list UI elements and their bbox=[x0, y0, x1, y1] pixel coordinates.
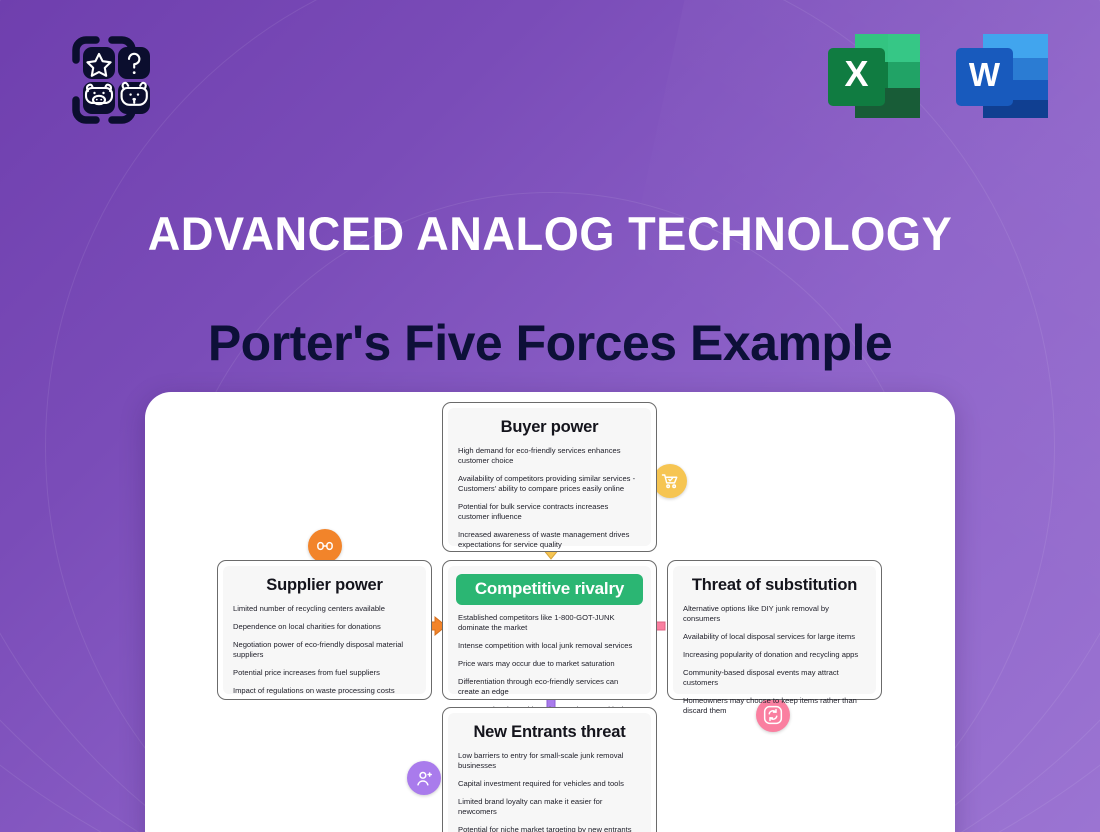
list-item: Established competitors like 1-800-GOT-J… bbox=[458, 613, 641, 633]
list-item: Intense competition with local junk remo… bbox=[458, 641, 641, 651]
list-item: Increasing popularity of donation and re… bbox=[683, 650, 866, 660]
badge-entrants-add-user-icon bbox=[407, 761, 441, 795]
card-bullet-list: Low barriers to entry for small-scale ju… bbox=[458, 751, 641, 832]
card-title: Supplier power bbox=[233, 576, 416, 595]
card-threat-of-substitution[interactable]: Threat of substitution Alternative optio… bbox=[667, 560, 882, 700]
list-item: Limited number of recycling centers avai… bbox=[233, 604, 416, 614]
list-item: Availability of local disposal services … bbox=[683, 632, 866, 642]
card-supplier-power[interactable]: Supplier power Limited number of recycli… bbox=[217, 560, 432, 700]
page-title: ADVANCED ANALOG TECHNOLOGY bbox=[22, 206, 1078, 261]
list-item: High demand for eco-friendly services en… bbox=[458, 446, 641, 466]
badge-supplier-link-icon bbox=[308, 529, 342, 563]
card-title: Buyer power bbox=[458, 418, 641, 437]
card-title: New Entrants threat bbox=[458, 723, 641, 742]
office-app-icons: X W bbox=[824, 30, 1052, 122]
card-new-entrants-threat[interactable]: New Entrants threat Low barriers to entr… bbox=[442, 707, 657, 832]
card-title: Threat of substitution bbox=[683, 576, 866, 595]
card-bullet-list: Alternative options like DIY junk remova… bbox=[683, 604, 866, 716]
list-item: Low barriers to entry for small-scale ju… bbox=[458, 751, 641, 771]
list-item: Availability of competitors providing si… bbox=[458, 474, 641, 494]
add-person-icon bbox=[415, 769, 434, 788]
svg-text:W: W bbox=[969, 56, 1001, 93]
list-item: Alternative options like DIY junk remova… bbox=[683, 604, 866, 624]
list-item: Impact of regulations on waste processin… bbox=[233, 686, 416, 696]
list-item: Potential for niche market targeting by … bbox=[458, 825, 641, 832]
shopping-cart-icon bbox=[661, 472, 679, 490]
list-item: Increased awareness of waste management … bbox=[458, 530, 641, 550]
list-item: Limited brand loyalty can make it easier… bbox=[458, 797, 641, 817]
card-bullet-list: Limited number of recycling centers avai… bbox=[233, 604, 416, 696]
badge-buyer-cart-icon bbox=[653, 464, 687, 498]
list-item: Price wars may occur due to market satur… bbox=[458, 659, 641, 669]
svg-text:X: X bbox=[844, 53, 868, 94]
list-item: Homeowners may choose to keep items rath… bbox=[683, 696, 866, 716]
page-subtitle: Porter's Five Forces Example bbox=[0, 314, 1100, 372]
list-item: Potential for bulk service contracts inc… bbox=[458, 502, 641, 522]
list-item: Potential price increases from fuel supp… bbox=[233, 668, 416, 678]
list-item: Community-based disposal events may attr… bbox=[683, 668, 866, 688]
card-title: Competitive rivalry bbox=[456, 574, 643, 605]
card-competitive-rivalry[interactable]: Competitive rivalry Established competit… bbox=[442, 560, 657, 700]
link-chain-icon bbox=[316, 537, 334, 555]
list-item: Differentiation through eco-friendly ser… bbox=[458, 677, 641, 697]
excel-icon: X bbox=[824, 30, 924, 122]
list-item: Dependence on local charities for donati… bbox=[233, 622, 416, 632]
list-item: Capital investment required for vehicles… bbox=[458, 779, 641, 789]
slide-canvas: X W ADVANCED ANALOG TECHNOLOGY Porter's … bbox=[0, 0, 1100, 832]
card-buyer-power[interactable]: Buyer power High demand for eco-friendly… bbox=[442, 402, 657, 552]
word-icon: W bbox=[952, 30, 1052, 122]
diagram-panel: Buyer power High demand for eco-friendly… bbox=[145, 392, 955, 832]
scan-frame-logo bbox=[52, 30, 156, 130]
list-item: Negotiation power of eco-friendly dispos… bbox=[233, 640, 416, 660]
card-bullet-list: High demand for eco-friendly services en… bbox=[458, 446, 641, 550]
